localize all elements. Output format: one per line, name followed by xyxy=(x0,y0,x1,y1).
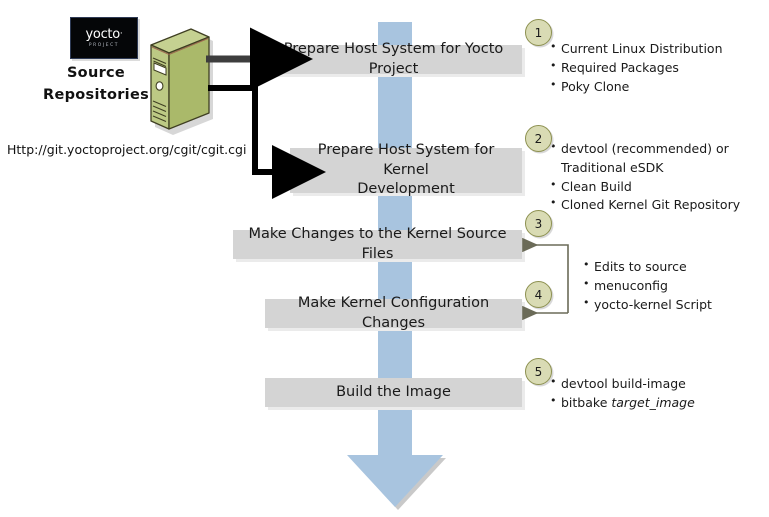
list-item: devtool (recommended) or Traditional eSD… xyxy=(550,140,730,178)
list-item: yocto-kernel Script xyxy=(583,296,712,315)
step-5-bullets: devtool build-image bitbake target_image xyxy=(550,375,695,413)
step-2-bullets: devtool (recommended) or Traditional eSD… xyxy=(550,140,730,215)
step-3-box[interactable]: Make Changes to the Kernel Source Files xyxy=(233,230,522,259)
step-2-box-line2: Development xyxy=(357,180,455,200)
list-item: Poky Clone xyxy=(550,78,723,97)
step-2-number: 2 xyxy=(525,125,552,152)
step-1-box[interactable]: Prepare Host System for Yocto Project xyxy=(265,45,522,74)
list-item: menuconfig xyxy=(583,277,712,296)
source-repository-url: Http://git.yoctoproject.org/cgit/cgit.cg… xyxy=(7,142,246,157)
step-5-box[interactable]: Build the Image xyxy=(265,378,522,407)
logo-wordmark-text: yocto xyxy=(86,27,120,42)
step-3-number: 3 xyxy=(525,210,552,237)
list-item: Required Packages xyxy=(550,59,723,78)
flow-arrow-head xyxy=(347,455,443,507)
step-4-number: 4 xyxy=(525,281,552,308)
list-item: Edits to source xyxy=(583,258,712,277)
list-item: bitbake target_image xyxy=(550,394,695,413)
list-item: Current Linux Distribution xyxy=(550,40,723,59)
workflow-diagram: yocto· PROJECT xyxy=(0,0,769,517)
steps-3-4-bullets: Edits to source menuconfig yocto-kernel … xyxy=(583,258,712,314)
step-1-bullets: Current Linux Distribution Required Pack… xyxy=(550,40,723,96)
list-item: Clean Build xyxy=(550,178,730,197)
arrow-source-to-step-2 xyxy=(208,88,278,172)
list-item: devtool build-image xyxy=(550,375,695,394)
list-item-line1: devtool (recommended) or xyxy=(561,141,729,156)
list-item: Cloned Kernel Git Repository xyxy=(550,196,730,215)
source-repositories-label: Source Repositories xyxy=(36,63,156,107)
step-5-number: 5 xyxy=(525,358,552,385)
step-2-box-line1: Prepare Host System for Kernel xyxy=(296,141,516,180)
source-label-line1: Source xyxy=(36,63,156,85)
yocto-project-logo: yocto· PROJECT xyxy=(70,17,138,59)
step-1-number: 1 xyxy=(525,19,552,46)
list-item-prefix: bitbake xyxy=(561,395,611,410)
source-label-line2: Repositories xyxy=(36,85,156,107)
list-item-line2: Traditional eSDK xyxy=(561,159,730,178)
logo-wordmark: yocto· xyxy=(86,28,123,41)
logo-dot: · xyxy=(120,29,123,39)
list-item-target: target_image xyxy=(611,395,694,410)
step-4-box[interactable]: Make Kernel Configuration Changes xyxy=(265,299,522,328)
step-2-box[interactable]: Prepare Host System for Kernel Developme… xyxy=(290,148,522,193)
logo-subtitle: PROJECT xyxy=(89,43,119,48)
